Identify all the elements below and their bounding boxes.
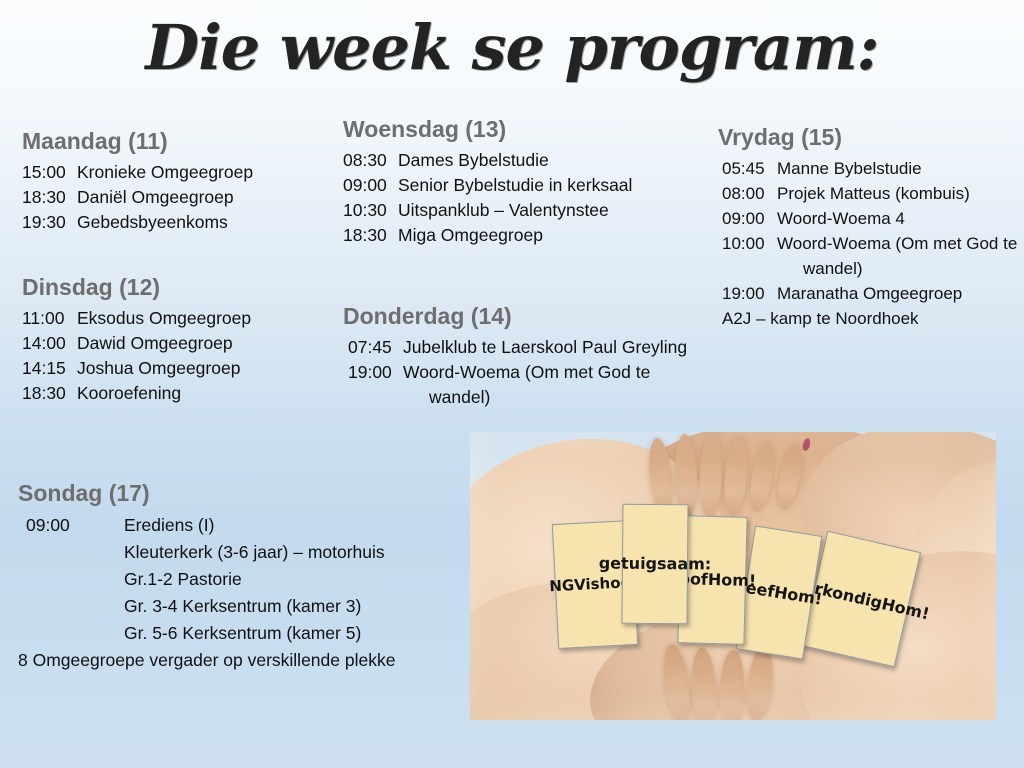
entry-desc: Woord-Woema 4 xyxy=(777,206,905,231)
entry-item: 19:00Woord-Woema (Om met God te xyxy=(348,360,687,385)
entry-desc: Gebedsbyeenkoms xyxy=(77,210,228,235)
entry-item: 08:00Projek Matteus (kombuis) xyxy=(722,181,1024,206)
entry-list-vrydag: 05:45Manne Bybelstudie 08:00Projek Matte… xyxy=(718,156,1024,331)
entry-item: 18:30Kooroefening xyxy=(22,381,251,406)
entry-item: 18:30Miga Omgeegroep xyxy=(343,223,632,248)
entry-desc: Kooroefening xyxy=(77,381,181,406)
slide-canvas: Die week se program: Maandag (11) 15:00K… xyxy=(0,0,1024,768)
sticky-note-line-1: NG xyxy=(549,576,575,596)
entry-item: 08:30Dames Bybelstudie xyxy=(343,148,632,173)
entry-item-continuation: Kleuterkerk (3-6 jaar) – motorhuis xyxy=(18,539,395,566)
entry-desc: 8 Omgeegroepe vergader op verskillende p… xyxy=(18,647,395,674)
entry-list-donderdag: 07:45Jubelklub te Laerskool Paul Greylin… xyxy=(343,335,687,410)
entry-time: 09:00 xyxy=(18,512,124,539)
entry-desc: wandel) xyxy=(777,256,863,281)
entry-desc: Gr. 3-4 Kerksentrum (kamer 3) xyxy=(124,593,361,620)
entry-item: 09:00Senior Bybelstudie in kerksaal xyxy=(343,173,632,198)
entry-desc: Maranatha Omgeegroep xyxy=(777,281,962,306)
day-block-sondag: Sondag (17) 09:00Erediens (I) Kleuterker… xyxy=(18,478,395,674)
entry-desc: Kleuterkerk (3-6 jaar) – motorhuis xyxy=(124,539,385,566)
entry-time: 19:30 xyxy=(22,210,77,235)
entry-desc: Manne Bybelstudie xyxy=(777,156,922,181)
entry-item: 14:00Dawid Omgeegroep xyxy=(22,331,251,356)
entry-item: 07:45Jubelklub te Laerskool Paul Greylin… xyxy=(348,335,687,360)
page-title: Die week se program: xyxy=(0,12,1024,84)
day-block-donderdag: Donderdag (14) 07:45Jubelklub te Laersko… xyxy=(343,301,687,410)
day-heading-vrydag: Vrydag (15) xyxy=(718,122,1024,152)
entry-item: 09:00Erediens (I) xyxy=(18,512,395,539)
entry-time: 19:00 xyxy=(722,281,777,306)
entry-item: A2J – kamp te Noordhoek xyxy=(722,306,1024,331)
day-heading-sondag: Sondag (17) xyxy=(18,478,395,508)
sticky-note-line-2: saam: xyxy=(657,554,711,574)
entry-time: 18:30 xyxy=(22,185,77,210)
entry-item: 8 Omgeegroepe vergader op verskillende p… xyxy=(18,647,395,674)
entry-desc: Joshua Omgeegroep xyxy=(77,356,240,381)
day-heading-donderdag: Donderdag (14) xyxy=(343,301,687,331)
entry-item: 19:30Gebedsbyeenkoms xyxy=(22,210,253,235)
sticky-note-line-1: getuig xyxy=(599,554,657,574)
sticky-note-line-2: Hom! xyxy=(708,570,757,591)
entry-item: 18:30Daniël Omgeegroep xyxy=(22,185,253,210)
entry-time: 05:45 xyxy=(722,156,777,181)
day-heading-maandag: Maandag (11) xyxy=(22,126,253,156)
entry-list-woensdag: 08:30Dames Bybelstudie 09:00Senior Bybel… xyxy=(343,148,632,248)
entry-item-continuation: Gr.1-2 Pastorie xyxy=(18,566,395,593)
entry-item: 10:00Woord-Woema (Om met God te xyxy=(722,231,1024,256)
entry-desc: Daniël Omgeegroep xyxy=(77,185,234,210)
entry-desc: Woord-Woema (Om met God te xyxy=(403,360,650,385)
entry-time: 07:45 xyxy=(348,335,403,360)
entry-time: 10:00 xyxy=(722,231,777,256)
entry-desc: Erediens (I) xyxy=(124,512,214,539)
entry-item-continuation: Gr. 5-6 Kerksentrum (kamer 5) xyxy=(18,620,395,647)
entry-time: 09:00 xyxy=(722,206,777,231)
entry-time: 18:30 xyxy=(22,381,77,406)
entry-desc: Dawid Omgeegroep xyxy=(77,331,233,356)
entry-desc: Uitspanklub – Valentynstee xyxy=(398,198,609,223)
day-block-vrydag: Vrydag (15) 05:45Manne Bybelstudie 08:00… xyxy=(718,122,1024,331)
entry-list-dinsdag: 11:00Eksodus Omgeegroep 14:00Dawid Omgee… xyxy=(22,306,251,406)
entry-time: 15:00 xyxy=(22,160,77,185)
entry-item-continuation: Gr. 3-4 Kerksentrum (kamer 3) xyxy=(18,593,395,620)
day-heading-woensdag: Woensdag (13) xyxy=(343,114,632,144)
entry-desc: wandel) xyxy=(403,385,490,410)
entry-time: 08:00 xyxy=(722,181,777,206)
entry-time: 18:30 xyxy=(343,223,398,248)
entry-item: 15:00Kronieke Omgeegroep xyxy=(22,160,253,185)
entry-item-continuation: wandel) xyxy=(722,256,1024,281)
entry-desc: Kronieke Omgeegroep xyxy=(77,160,253,185)
sticky-note: getuigsaam: xyxy=(621,504,688,625)
entry-desc: Eksodus Omgeegroep xyxy=(77,306,251,331)
entry-time: 11:00 xyxy=(22,306,77,331)
entry-item: 05:45Manne Bybelstudie xyxy=(722,156,1024,181)
entry-time: 19:00 xyxy=(348,360,403,385)
entry-item: 10:30Uitspanklub – Valentynstee xyxy=(343,198,632,223)
entry-item: 09:00Woord-Woema 4 xyxy=(722,206,1024,231)
entry-item: 14:15Joshua Omgeegroep xyxy=(22,356,251,381)
entry-desc: Dames Bybelstudie xyxy=(398,148,549,173)
entry-desc: Senior Bybelstudie in kerksaal xyxy=(398,173,632,198)
entry-desc: Miga Omgeegroep xyxy=(398,223,543,248)
entry-time: 08:30 xyxy=(343,148,398,173)
entry-item: 11:00Eksodus Omgeegroep xyxy=(22,306,251,331)
entry-time: 14:15 xyxy=(22,356,77,381)
entry-time: 14:00 xyxy=(22,331,77,356)
day-block-woensdag: Woensdag (13) 08:30Dames Bybelstudie 09:… xyxy=(343,114,632,248)
entry-desc: Woord-Woema (Om met God te xyxy=(777,231,1017,256)
day-block-maandag: Maandag (11) 15:00Kronieke Omgeegroep 18… xyxy=(22,126,253,235)
entry-item: 19:00Maranatha Omgeegroep xyxy=(722,281,1024,306)
entry-desc: Gr.1-2 Pastorie xyxy=(124,566,242,593)
entry-time: 10:30 xyxy=(343,198,398,223)
entry-list-sondag: 09:00Erediens (I) Kleuterkerk (3-6 jaar)… xyxy=(18,512,395,674)
entry-item-continuation: wandel) xyxy=(348,385,687,410)
entry-list-maandag: 15:00Kronieke Omgeegroep 18:30Daniël Omg… xyxy=(22,160,253,235)
day-heading-dinsdag: Dinsdag (12) xyxy=(22,272,251,302)
entry-time: 09:00 xyxy=(343,173,398,198)
entry-desc: Jubelklub te Laerskool Paul Greyling xyxy=(403,335,687,360)
entry-desc: Projek Matteus (kombuis) xyxy=(777,181,970,206)
entry-desc: Gr. 5-6 Kerksentrum (kamer 5) xyxy=(124,620,361,647)
day-block-dinsdag: Dinsdag (12) 11:00Eksodus Omgeegroep 14:… xyxy=(22,272,251,406)
hands-photo: NGVishoek getuigsaam: LoofHom! LeefHom! … xyxy=(470,432,996,720)
entry-desc: A2J – kamp te Noordhoek xyxy=(722,306,919,331)
